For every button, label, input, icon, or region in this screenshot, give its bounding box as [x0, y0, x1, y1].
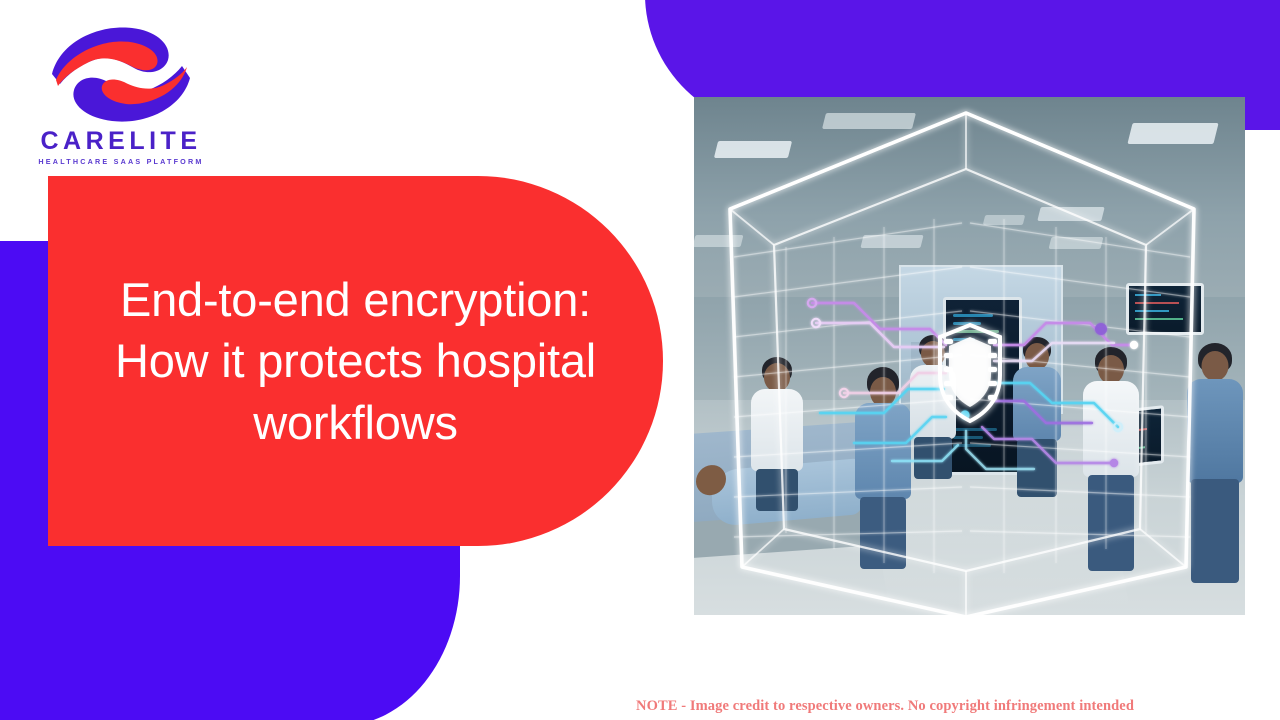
- vital-sign-monitor: [1126, 283, 1204, 335]
- ceiling-light-panel: [1049, 237, 1104, 249]
- ceiling-light-panel: [694, 235, 743, 247]
- clinician-right-back: [1012, 339, 1062, 499]
- ceiling-light-panel: [1037, 207, 1104, 221]
- clinician-centre: [909, 337, 957, 477]
- banner-canvas: CARELITE HEALTHCARE SAAS PLATFORM End-to…: [0, 0, 1280, 720]
- nurse-right: [1186, 345, 1244, 585]
- ceiling-light-panel: [1127, 123, 1218, 144]
- headline-card: End-to-end encryption: How it protects h…: [48, 176, 663, 546]
- ceiling-light-panel: [983, 215, 1025, 225]
- page-title: End-to-end encryption: How it protects h…: [101, 269, 611, 452]
- ceiling-light-panel: [860, 235, 923, 248]
- doctor-right: [1082, 349, 1140, 574]
- brand-logo[interactable]: CARELITE HEALTHCARE SAAS PLATFORM: [26, 22, 216, 165]
- image-credit-note: NOTE - Image credit to respective owners…: [636, 698, 1134, 715]
- carelite-c-swoosh-icon: [46, 22, 196, 127]
- hero-image: [694, 97, 1245, 615]
- ceiling-light-panel: [822, 113, 916, 129]
- hospital-scene: [694, 97, 1245, 615]
- ceiling-light-panel: [714, 141, 792, 158]
- brand-tagline: HEALTHCARE SAAS PLATFORM: [26, 158, 216, 165]
- brand-wordmark: CARELITE: [26, 129, 216, 154]
- doctor-left: [750, 359, 804, 509]
- nurse-left: [854, 369, 912, 569]
